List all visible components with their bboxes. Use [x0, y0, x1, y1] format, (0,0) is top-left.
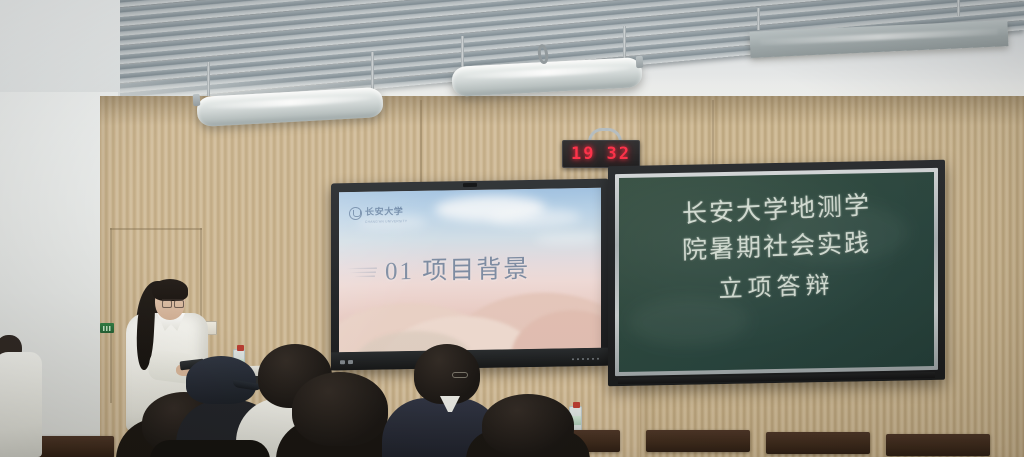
display-power-buttons[interactable] — [340, 360, 353, 364]
smart-display[interactable]: 长安大学 CHANG'AN UNIVERSITY 01 项目背景 — [331, 179, 609, 371]
display-control-buttons[interactable] — [572, 357, 600, 360]
presenter-glasses-icon — [162, 299, 184, 306]
chalk-line-3: 立项答辩 — [619, 261, 934, 308]
blackboard-surface: 长安大学地测学 院暑期社会实践 立项答辩 — [619, 172, 934, 372]
blackboard-frame: 长安大学地测学 院暑期社会实践 立项答辩 — [615, 168, 938, 376]
presentation-slide: 长安大学 CHANG'AN UNIVERSITY 01 项目背景 — [339, 188, 601, 353]
presenter-hair-top — [152, 279, 188, 301]
chair-back — [886, 434, 990, 456]
emergency-exit-sign — [100, 323, 114, 333]
door-frame-top — [110, 228, 202, 230]
wall-panel-seam — [712, 100, 714, 170]
chair-back — [646, 430, 750, 452]
clock-hours: 19 — [571, 146, 595, 163]
logo-subtext: CHANG'AN UNIVERSITY — [365, 219, 407, 224]
display-panel: 长安大学 CHANG'AN UNIVERSITY 01 项目背景 — [339, 188, 601, 353]
chair-back — [766, 432, 870, 454]
glasses-icon — [452, 372, 468, 378]
door-frame-left — [110, 228, 112, 403]
blackboard: 长安大学地测学 院暑期社会实践 立项答辩 — [608, 160, 945, 386]
digital-clock: 19 32 — [562, 140, 640, 168]
display-sensor-icon — [463, 183, 477, 187]
university-emblem-icon — [349, 206, 362, 219]
clock-minutes: 32 — [607, 146, 631, 163]
classroom-photo-scene: 19 32 长安大学 — [0, 0, 1024, 457]
swoosh-decoration-icon — [347, 265, 379, 281]
logo-text: 长安大学 — [365, 206, 403, 217]
slide-title-group: 01 项目背景 — [347, 256, 597, 285]
slide-title: 01 项目背景 — [385, 257, 530, 285]
university-logo: 长安大学 CHANG'AN UNIVERSITY — [349, 201, 407, 224]
